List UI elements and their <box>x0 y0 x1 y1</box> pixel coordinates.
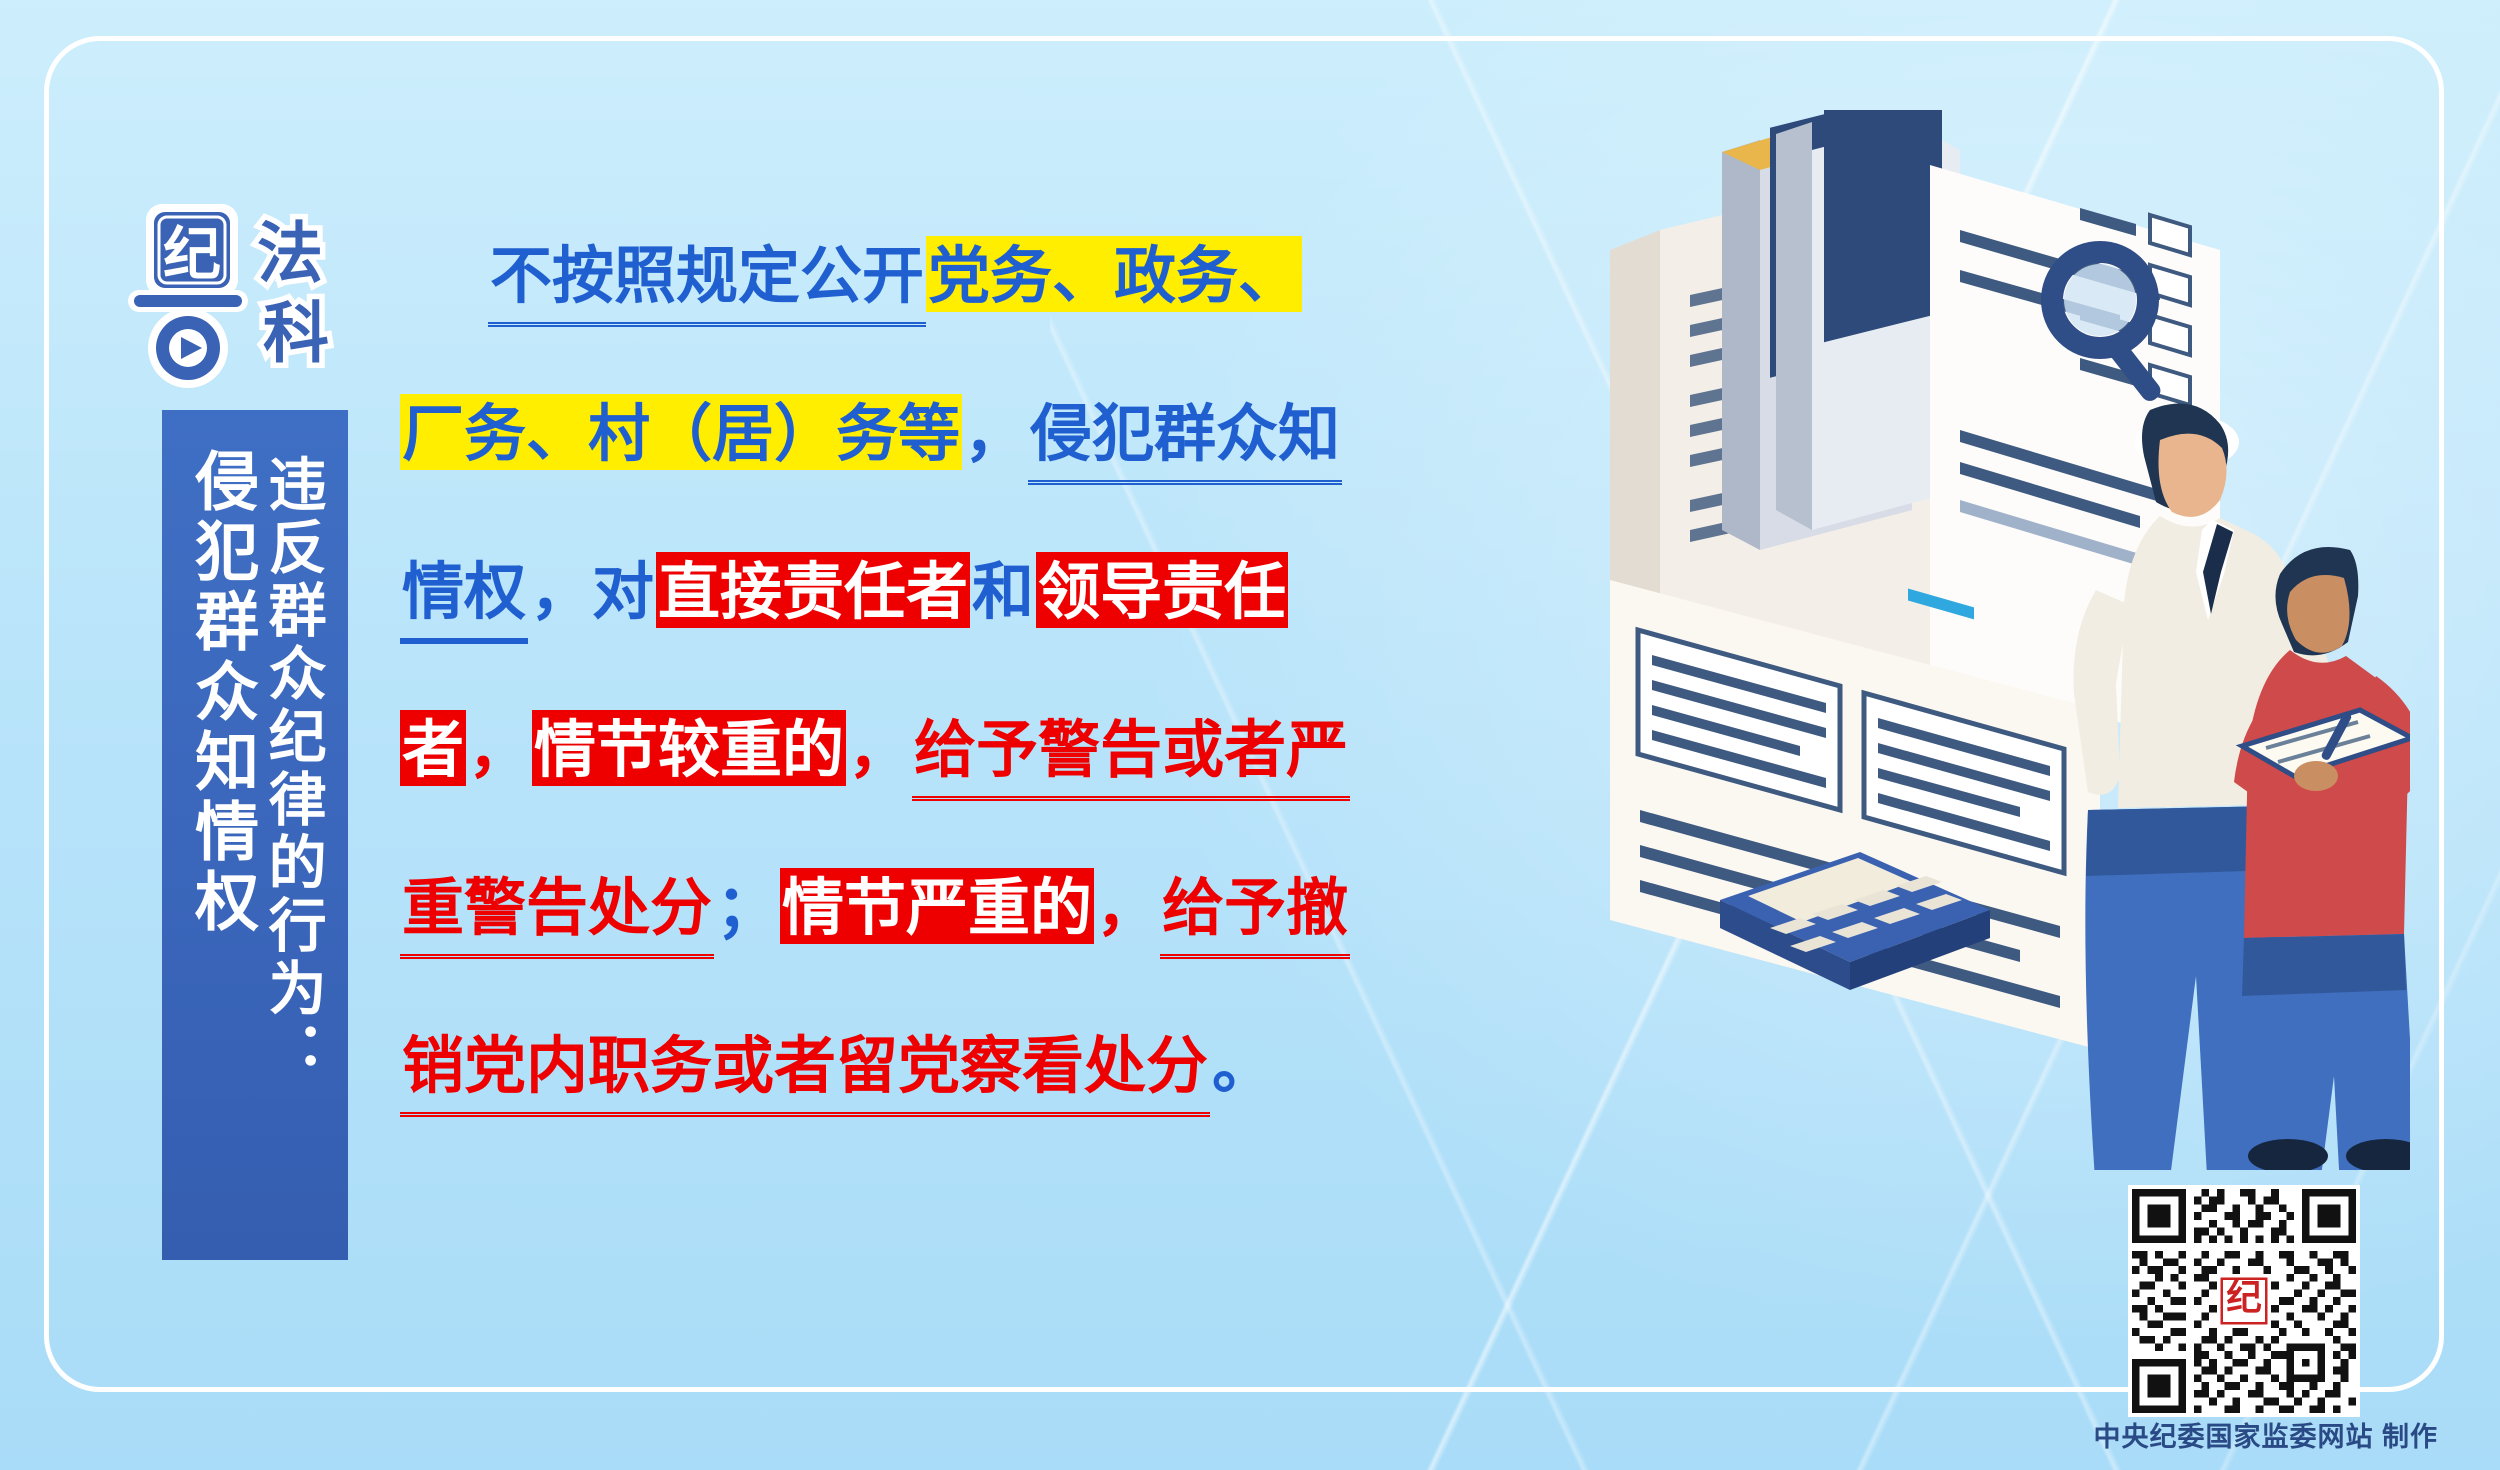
article-line: 不按照规定公开党务、政务、 <box>400 236 1460 394</box>
illustration <box>1460 110 2410 1170</box>
article-segment-punct-red: ， <box>846 710 912 786</box>
article-segment-blue-sgl: 情权 <box>400 552 528 644</box>
brand-logo: 纪 法 法 科 科 <box>118 198 348 388</box>
article-segment-redbg: 情节严重的 <box>780 868 1094 944</box>
article-segment-punct-red: ， <box>466 710 532 786</box>
vertical-title-banner: 违反群众纪律的行为： 侵犯群众知情权 <box>162 410 348 1260</box>
banner-column-left: 侵犯群众知情权 <box>187 448 255 1260</box>
article-line: 厂务、村（居）务等，侵犯群众知 <box>400 394 1460 552</box>
svg-text:纪: 纪 <box>2226 1277 2262 1317</box>
article-segment-redbg: 领导责任 <box>1036 552 1288 628</box>
article-line: 情权，对直接责任者和领导责任 <box>400 552 1460 710</box>
article-line: 销党内职务或者留党察看处分。 <box>400 1026 1460 1184</box>
article-segment-red-dbl: 销党内职务或者留党察看处分 <box>400 1026 1210 1117</box>
article-segment-punct-blue: 。 <box>1210 1026 1276 1102</box>
article-segment-redbg: 情节较重的 <box>532 710 846 786</box>
article-segment-red-dbl: 重警告处分 <box>400 868 714 959</box>
svg-text:法: 法 <box>257 218 323 291</box>
logo-artwork: 纪 法 法 科 科 <box>118 198 348 388</box>
article-segment-red-dbl: 给予撤 <box>1160 868 1350 959</box>
qr-code[interactable]: 纪 <box>2128 1185 2360 1417</box>
article-segment-redbg: 直接责任者 <box>656 552 970 628</box>
svg-text:科: 科 <box>263 298 329 371</box>
banner-column-right: 违反群众纪律的行为： <box>261 448 322 1260</box>
logo-char-ke: 科 科 <box>263 298 329 371</box>
article-segment-redbg: 者 <box>400 710 466 786</box>
article-segment-punct-blue: ，对 <box>528 552 656 628</box>
footer-credit: 中央纪委国家监委网站 制作 <box>2093 1415 2438 1454</box>
article-segment-punct-red: ， <box>1094 868 1160 944</box>
qr-code-graphic: 纪 <box>2132 1189 2356 1413</box>
binder-folders <box>1722 110 1960 550</box>
logo-char-fa: 法 法 <box>257 218 323 291</box>
article-segment-yellow: 党务、政务、 <box>926 236 1302 312</box>
article-line: 者，情节较重的，给予警告或者严 <box>400 710 1460 868</box>
svg-text:纪: 纪 <box>163 222 221 287</box>
article-text-block: 不按照规定公开党务、政务、厂务、村（居）务等，侵犯群众知情权，对直接责任者和领导… <box>400 236 1460 1184</box>
article-segment-punct-blue: ， <box>962 394 1028 470</box>
article-segment-punct-blue: ； <box>714 868 780 944</box>
article-segment-blue: 和 <box>970 552 1036 628</box>
article-line: 重警告处分；情节严重的，给予撤 <box>400 868 1460 1026</box>
poster-canvas: 纪 法 法 科 科 违反群众纪律的行为： <box>0 0 2500 1470</box>
article-segment-yellow: 厂务、村（居）务等 <box>400 394 962 470</box>
logo-char-ji: 纪 <box>146 204 238 296</box>
article-segment-red-dbl: 给予警告或者严 <box>912 710 1350 801</box>
logo-char-bai-play <box>128 290 248 388</box>
article-segment-blue-dbl: 不按照规定公开 <box>488 236 926 327</box>
illustration-artwork <box>1460 110 2410 1170</box>
article-segment-blue-dbl: 侵犯群众知 <box>1028 394 1342 485</box>
qr-center-logo: 纪 <box>2222 1277 2267 1323</box>
